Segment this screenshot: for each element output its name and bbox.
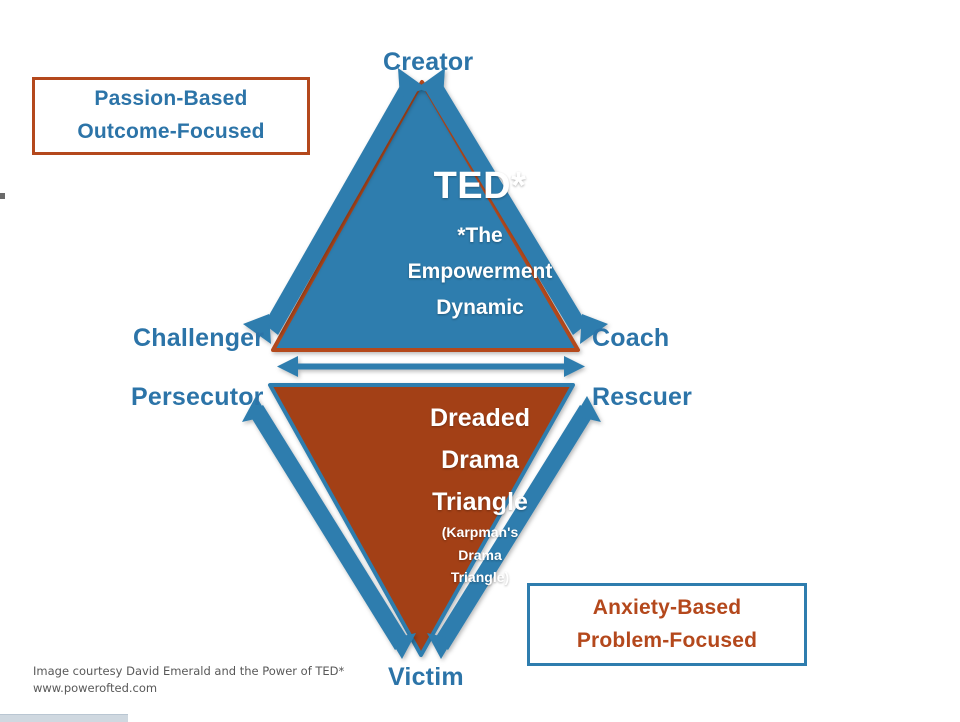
callout-anxiety-based-line-1: Anxiety-Based: [593, 592, 741, 625]
ted-subtitle-line-3: Dynamic: [0, 290, 960, 326]
slide-canvas: TED* *The Empowerment Dynamic Dreaded Dr…: [0, 0, 960, 722]
role-label-persecutor: Persecutor: [131, 383, 264, 412]
callout-anxiety-based: Anxiety-Based Problem-Focused: [527, 583, 807, 666]
role-label-rescuer: Rescuer: [592, 383, 692, 412]
drama-triangle-title: Dreaded Drama Triangle: [0, 397, 960, 523]
role-label-challenger: Challenger: [133, 324, 264, 353]
ted-subtitle: *The Empowerment Dynamic: [0, 218, 960, 326]
role-label-creator: Creator: [383, 48, 473, 77]
callout-passion-based-line-1: Passion-Based: [94, 83, 247, 116]
drama-triangle-subtitle: (Karpman's Drama Triangle): [0, 521, 960, 589]
ted-title: TED*: [0, 165, 960, 208]
drama-triangle-subtitle-line-1: (Karpman's: [0, 521, 960, 544]
image-credit: Image courtesy David Emerald and the Pow…: [33, 663, 344, 696]
ted-subtitle-line-2: Empowerment: [0, 254, 960, 290]
slide-progress-bar: [0, 714, 128, 722]
callout-passion-based: Passion-Based Outcome-Focused: [32, 77, 310, 155]
arrow-horizontal-middle: [277, 356, 585, 377]
left-edge-marker: [0, 193, 5, 199]
role-label-coach: Coach: [592, 324, 669, 353]
drama-triangle-title-line-2: Drama: [0, 439, 960, 481]
callout-anxiety-based-line-2: Problem-Focused: [577, 625, 757, 658]
drama-triangle-subtitle-line-2: Drama: [0, 544, 960, 567]
callout-passion-based-line-2: Outcome-Focused: [77, 116, 264, 149]
ted-subtitle-line-1: *The: [0, 218, 960, 254]
image-credit-line-2: www.powerofted.com: [33, 680, 344, 697]
role-label-victim: Victim: [388, 663, 464, 692]
drama-triangle-subtitle-line-3: Triangle): [0, 566, 960, 589]
image-credit-line-1: Image courtesy David Emerald and the Pow…: [33, 663, 344, 680]
drama-triangle-title-line-3: Triangle: [0, 481, 960, 523]
